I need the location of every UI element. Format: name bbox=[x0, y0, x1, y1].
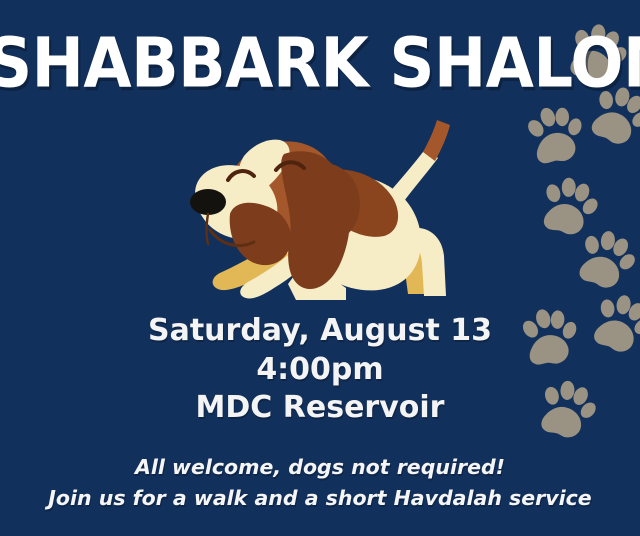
dog-tail-tip bbox=[423, 120, 450, 161]
flyer-canvas: SHABBARK SHALOM bbox=[0, 0, 640, 536]
page-title: SHABBARK SHALOM bbox=[0, 29, 640, 101]
event-footnote: All welcome, dogs not required! Join us … bbox=[0, 452, 640, 515]
event-date: Saturday, August 13 bbox=[0, 312, 640, 351]
paw-print-icon bbox=[517, 98, 591, 175]
event-location: MDC Reservoir bbox=[0, 389, 640, 428]
event-time: 4:00pm bbox=[0, 351, 640, 390]
dog-muzzle-line bbox=[207, 214, 209, 244]
footnote-line-1: All welcome, dogs not required! bbox=[0, 452, 640, 483]
event-details: Saturday, August 13 4:00pm MDC Reservoir bbox=[0, 312, 640, 428]
paw-print-icon bbox=[531, 170, 604, 246]
dog-nose bbox=[190, 189, 226, 215]
footnote-line-2: Join us for a walk and a short Havdalah … bbox=[0, 483, 640, 514]
dog-illustration bbox=[176, 108, 462, 313]
paw-print-icon bbox=[565, 221, 640, 302]
